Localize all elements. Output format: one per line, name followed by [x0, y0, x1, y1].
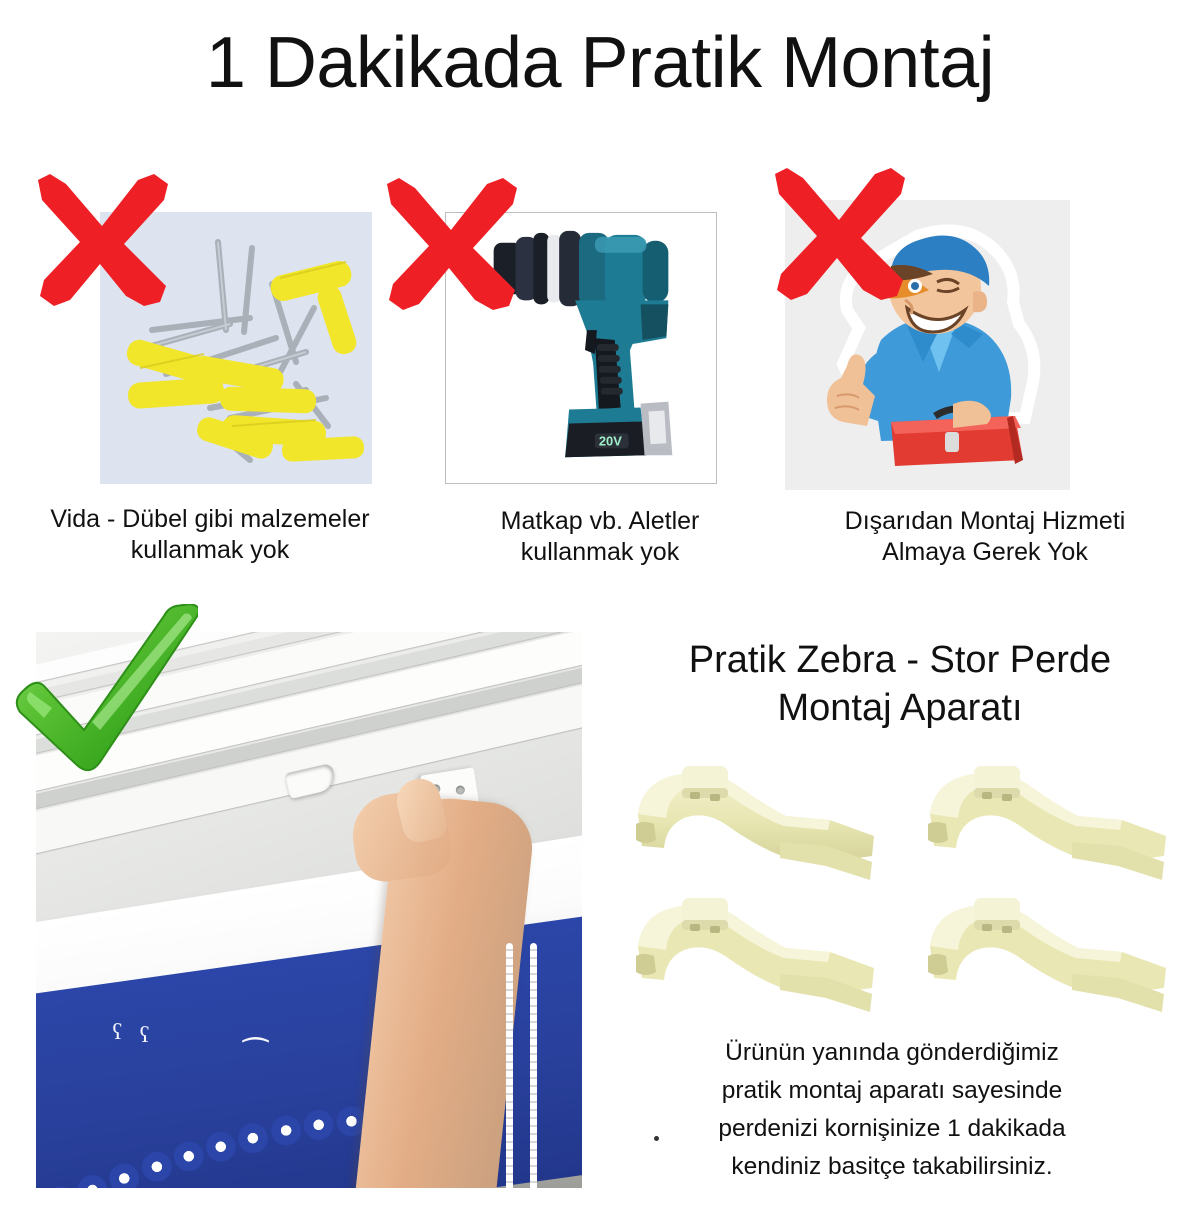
- plastic-mounting-clip: [630, 894, 888, 1020]
- curtain-rail-installation-photo: ʕ ʕ ⁀ ʕ: [36, 632, 582, 1188]
- mounting-instructions-note: Ürünün yanında gönderdiğimiz pratik mont…: [628, 1034, 1156, 1186]
- bead-chain: [530, 943, 537, 1188]
- plastic-mounting-clip: [630, 762, 888, 888]
- plastic-mounting-clip: [922, 762, 1180, 888]
- prohibited-card-screws: Vida - Dübel gibi malzemeler kullanmak y…: [20, 196, 400, 596]
- blind-motif: ʕ: [140, 1024, 150, 1046]
- prohibited-card-installer: Dışarıdan Montaj Hizmeti Almaya Gerek Yo…: [795, 196, 1175, 596]
- blind-motif: ⁀: [243, 1041, 267, 1071]
- bead-chain: [506, 943, 513, 1188]
- handyman-cartoon-illustration: [785, 200, 1070, 490]
- prohibited-card-installer-caption: Dışarıdan Montaj Hizmeti Almaya Gerek Yo…: [795, 506, 1175, 568]
- stray-period-mark: [654, 1136, 659, 1141]
- prohibited-items-row: Vida - Dübel gibi malzemeler kullanmak y…: [0, 196, 1200, 596]
- prohibited-card-screws-caption: Vida - Dübel gibi malzemeler kullanmak y…: [20, 504, 400, 566]
- blind-motif: ʕ: [112, 1021, 122, 1043]
- plastic-mounting-clip: [922, 894, 1180, 1020]
- cordless-drill-photo: 20V: [445, 212, 717, 484]
- page-title: 1 Dakikada Pratik Montaj: [0, 22, 1200, 104]
- mounting-clips-photo: [622, 758, 1178, 1024]
- screws-and-wall-plugs-photo: [100, 212, 372, 484]
- svg-text:20V: 20V: [599, 433, 622, 448]
- product-heading: Pratik Zebra - Stor Perde Montaj Aparatı: [600, 636, 1200, 732]
- prohibited-card-drill-caption: Matkap vb. Aletler kullanmak yok: [410, 506, 790, 568]
- prohibited-card-drill: 20V Matkap vb. Aletler kullanmak yok: [410, 196, 790, 596]
